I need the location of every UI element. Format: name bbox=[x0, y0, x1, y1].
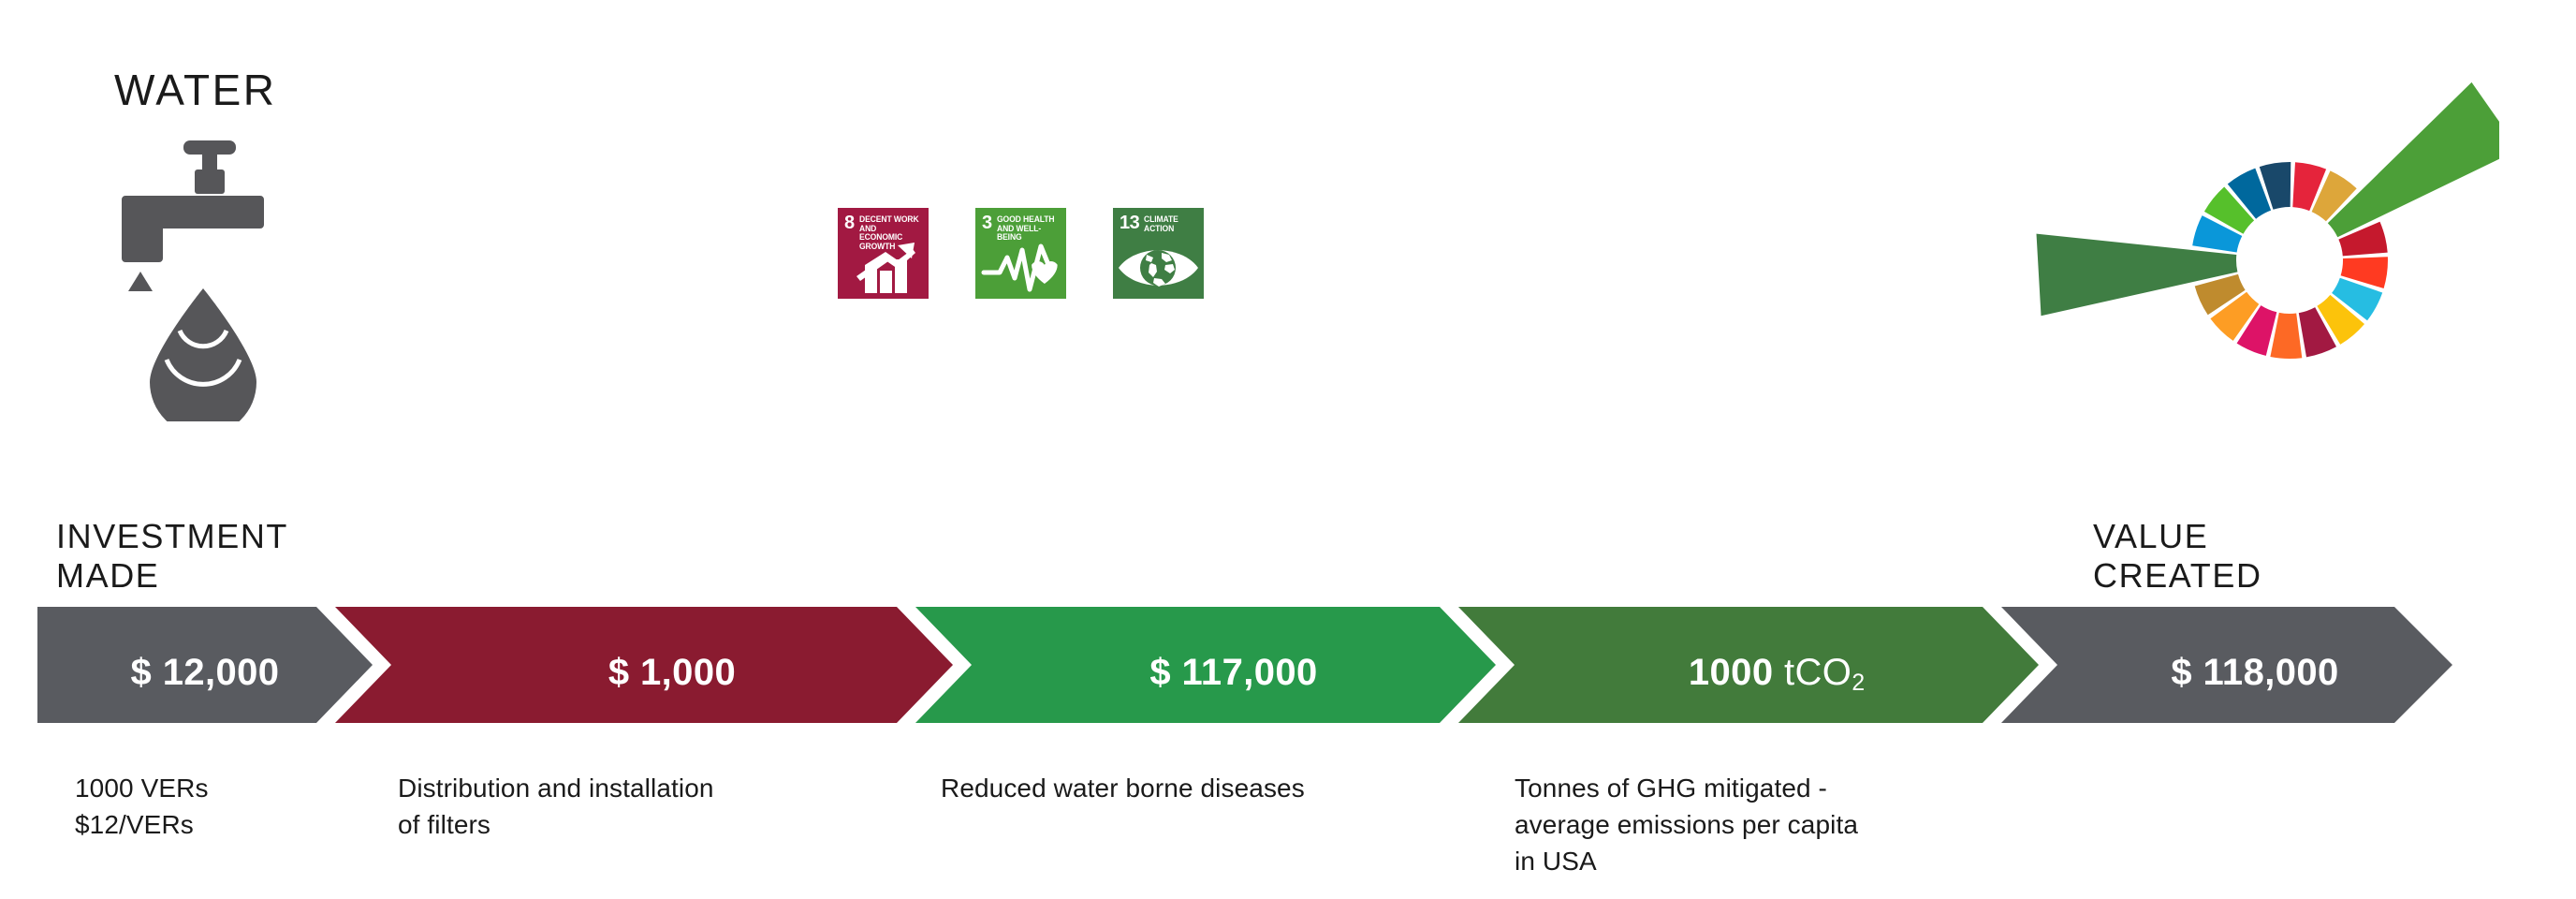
infographic-canvas: WATER bbox=[0, 0, 2576, 899]
page-title: WATER bbox=[114, 68, 276, 111]
sdg-tile-13-label: CLIMATE ACTION bbox=[1144, 215, 1196, 233]
chevron-value-4: 1000 tCO2 bbox=[1515, 654, 2039, 697]
chevron-value-2: $ 1,000 bbox=[391, 654, 953, 691]
sdg-tile-13-number: 13 bbox=[1120, 215, 1139, 231]
chevron-value-5: $ 118,000 bbox=[2057, 654, 2452, 691]
sdg-tile-3-number: 3 bbox=[982, 215, 992, 231]
chevron-value-4-subscript: 2 bbox=[1851, 671, 1865, 696]
sdg-tile-8[interactable]: 8 DECENT WORK AND ECONOMIC GROWTH bbox=[838, 208, 929, 299]
sdg-colour-wheel bbox=[2031, 56, 2499, 468]
wheel-segment-9 bbox=[2270, 313, 2302, 359]
eye-globe-icon bbox=[1113, 239, 1204, 297]
sdg-tile-13-head: 13 CLIMATE ACTION bbox=[1120, 215, 1200, 233]
caption-step-1: 1000 VERs $12/VERs bbox=[75, 770, 356, 843]
water-faucet-drop-icon bbox=[105, 131, 301, 421]
sdg-tile-13[interactable]: 13 CLIMATE ACTION bbox=[1113, 208, 1204, 299]
chevron-value-1: $ 12,000 bbox=[37, 654, 373, 691]
caption-step-2: Distribution and installation of filters bbox=[398, 770, 922, 843]
chevron-value-3: $ 117,000 bbox=[972, 654, 1496, 691]
chevron-value-4-unit: tCO bbox=[1784, 652, 1851, 693]
investment-made-label: INVESTMENT MADE bbox=[56, 517, 288, 596]
sdg-tile-8-number: 8 bbox=[844, 215, 855, 231]
value-created-label: VALUE CREATED bbox=[2093, 517, 2262, 596]
caption-step-3: Reduced water borne diseases bbox=[941, 770, 1465, 806]
sdg-tile-group: 8 DECENT WORK AND ECONOMIC GROWTH bbox=[838, 208, 1204, 299]
wheel-segment-3 bbox=[2328, 82, 2499, 237]
caption-step-4: Tonnes of GHG mitigated - average emissi… bbox=[1515, 770, 2001, 879]
chevron-value-4-number: 1000 bbox=[1689, 652, 1774, 693]
growth-chart-arrow-icon bbox=[838, 239, 929, 297]
heartbeat-heart-icon bbox=[975, 239, 1066, 297]
sdg-tile-3[interactable]: 3 GOOD HEALTH AND WELL-BEING bbox=[975, 208, 1066, 299]
